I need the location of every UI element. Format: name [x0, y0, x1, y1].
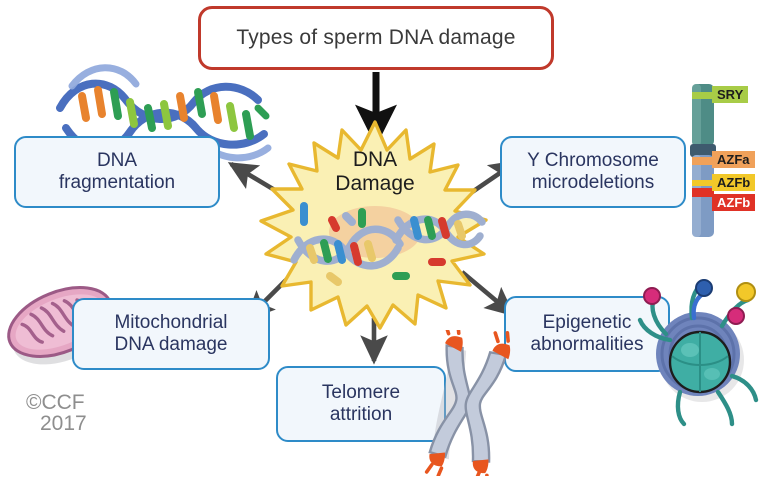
copyright-line1: ©CCF [26, 392, 146, 413]
node-label-line1: DNA [59, 150, 175, 172]
epigenetic-mark-yellow [737, 283, 755, 301]
node-label-line2: microdeletions [527, 172, 659, 194]
copyright-line2: 2017 [26, 413, 146, 434]
node-label-line1: Telomere [322, 382, 400, 404]
epigenetic-mark-magenta-right [728, 308, 744, 324]
y-region-label-sry: SRY [712, 86, 748, 103]
chromosome-telomere-icon [412, 330, 530, 476]
node-mitochondrial-dna-damage: Mitochondrial DNA damage [72, 298, 270, 370]
diagram-title-box: Types of sperm DNA damage [198, 6, 554, 70]
epigenetic-mark-blue [696, 280, 712, 296]
node-y-chromosome-microdeletions: Y Chromosome microdeletions [500, 136, 686, 208]
node-label-line2: attrition [322, 404, 400, 426]
node-label-line2: abnormalities [531, 334, 644, 356]
dna-damage-starburst: DNA Damage [246, 120, 504, 330]
node-label-line1: Y Chromosome [527, 150, 659, 172]
node-label-line2: DNA damage [114, 334, 227, 356]
node-label-line2: fragmentation [59, 172, 175, 194]
epigenetic-mark-magenta-left [644, 288, 660, 304]
node-label-line1: Mitochondrial [114, 312, 227, 334]
y-region-label-azfa: AZFa [712, 151, 755, 168]
y-region-label-azfb-2: AZFb [712, 194, 755, 211]
diagram-canvas: DNA Damage [0, 0, 768, 478]
y-chromosome-icon: SRY AZFa AZFb AZFb [686, 82, 768, 238]
y-region-label-azfb: AZFb [712, 174, 755, 191]
copyright-notice: ©CCF 2017 [26, 392, 146, 435]
nucleosome-icon [636, 256, 764, 428]
page-title: Types of sperm DNA damage [236, 26, 515, 50]
node-dna-fragmentation: DNA fragmentation [14, 136, 220, 208]
node-label-line1: Epigenetic [531, 312, 644, 334]
